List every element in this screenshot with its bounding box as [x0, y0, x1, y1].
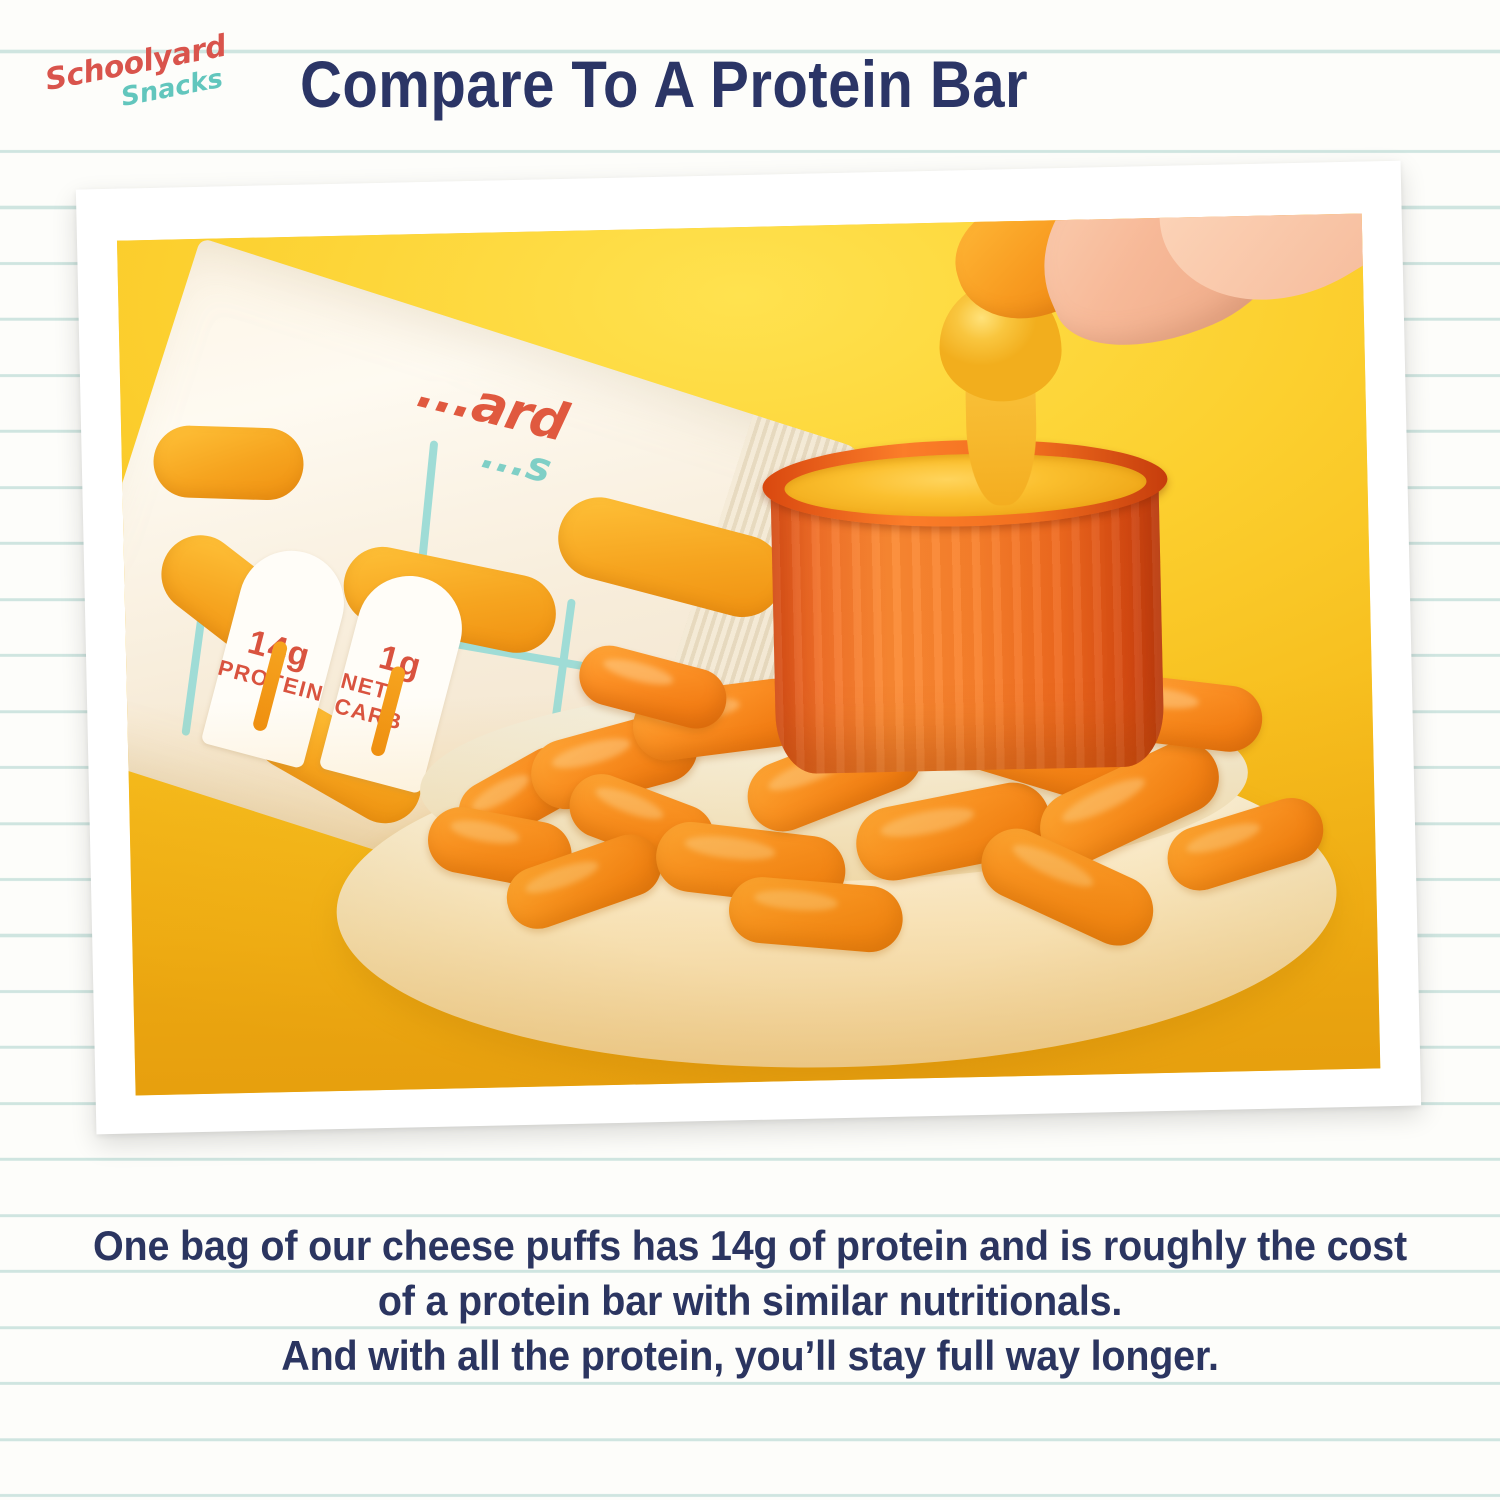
caption-line-3: And with all the protein, you’ll stay fu… [45, 1328, 1455, 1383]
photo-card: ...ard ...s 1g NET CARB 14g PROTEIN [76, 161, 1421, 1135]
caption-block: One bag of our cheese puffs has 14g of p… [0, 1218, 1500, 1383]
page-header: Schoolyard Snacks Compare To A Protein B… [0, 0, 1500, 160]
caption-line-1: One bag of our cheese puffs has 14g of p… [45, 1218, 1455, 1273]
caption-line-2: of a protein bar with similar nutritiona… [45, 1273, 1455, 1328]
brand-logo: Schoolyard Snacks [41, 31, 245, 158]
bag-puff-illustration [152, 425, 304, 502]
table-surface-shading [127, 675, 1380, 1095]
photo-scene: ...ard ...s 1g NET CARB 14g PROTEIN [117, 214, 1380, 1096]
product-photo: ...ard ...s 1g NET CARB 14g PROTEIN [117, 214, 1380, 1096]
page-title: Compare To A Protein Bar [300, 46, 1180, 122]
